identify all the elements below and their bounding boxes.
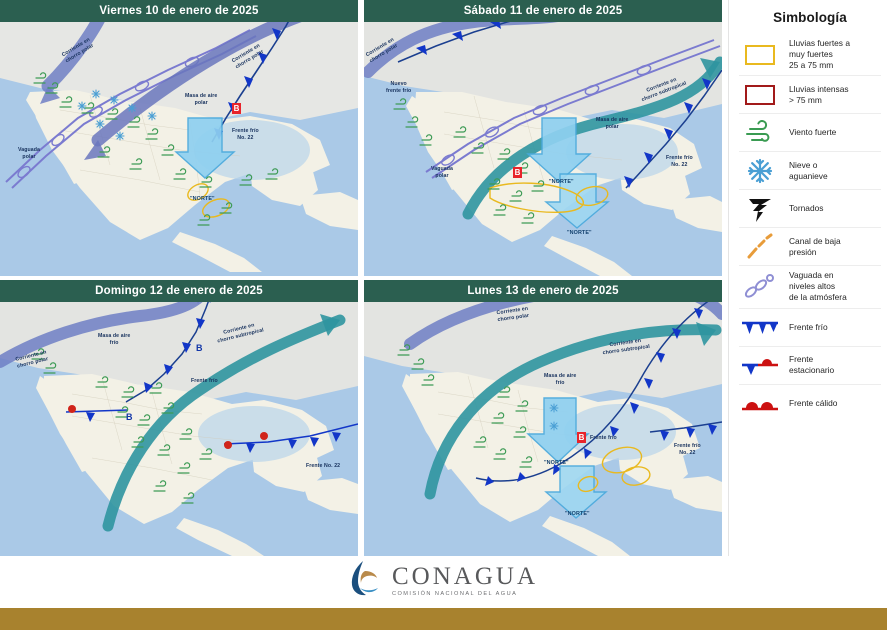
map-panel-sabado[interactable]: Sábado 11 de enero de 2025 (364, 0, 722, 276)
map-panel-lunes[interactable]: Lunes 13 de enero de 2025 (364, 280, 722, 556)
rain-heavy-box-icon (739, 45, 781, 65)
low-pressure-marker: B (232, 103, 241, 114)
panel-title-sabado: Sábado 11 de enero de 2025 (364, 0, 722, 22)
legend-label: Viento fuerte (789, 127, 836, 138)
legend-item-frente-estacionario[interactable]: Frente estacionario (739, 347, 881, 385)
conagua-subtitle: COMISIÓN NACIONAL DEL AGUA (392, 591, 538, 597)
rain-intense-box-icon (739, 85, 781, 105)
map-panels-grid: Viernes 10 de enero de 2025 (0, 0, 722, 556)
low-pressure-marker: B (126, 412, 133, 422)
legend-item-frente-frio[interactable]: Frente frío (739, 309, 881, 347)
legend-item-lluvias-intensas[interactable]: Lluvias intensas > 75 mm (739, 76, 881, 114)
weather-forecast-infographic: Viernes 10 de enero de 2025 (0, 0, 887, 630)
low-pressure-trough-icon (739, 233, 781, 261)
stationary-front-icon (739, 354, 781, 376)
legend-item-vaguada[interactable]: Vaguada en niveles altos de la atmósfera (739, 266, 881, 308)
bottom-accent-bar (0, 608, 887, 630)
tornado-icon (739, 195, 781, 223)
legend-item-viento-fuerte[interactable]: Viento fuerte (739, 114, 881, 152)
warm-front-icon (739, 396, 781, 412)
conagua-wordmark: CONAGUA (392, 564, 538, 589)
map-sabado-graphic (364, 0, 722, 276)
low-pressure-marker: B (196, 343, 203, 353)
map-lunes-graphic (364, 280, 722, 556)
map-domingo-graphic (0, 280, 358, 556)
legend-label: Frente frío (789, 322, 828, 333)
legend-item-canal-baja-presion[interactable]: Canal de baja presión (739, 228, 881, 266)
legend-label: Lluvias intensas > 75 mm (789, 84, 849, 106)
strong-wind-icon (739, 120, 781, 146)
legend-panel: Simbología Lluvias fuertes a muy fuertes… (728, 0, 887, 556)
conagua-logo: CONAGUA COMISIÓN NACIONAL DEL AGUA (0, 556, 887, 604)
map-panel-viernes[interactable]: Viernes 10 de enero de 2025 (0, 0, 358, 276)
legend-label: Tornados (789, 203, 823, 214)
legend-label: Lluvias fuertes a muy fuertes 25 a 75 mm (789, 38, 850, 71)
panel-title-lunes: Lunes 13 de enero de 2025 (364, 280, 722, 302)
snow-sleet-icon (739, 157, 781, 185)
panel-title-viernes: Viernes 10 de enero de 2025 (0, 0, 358, 22)
panel-title-domingo: Domingo 12 de enero de 2025 (0, 280, 358, 302)
legend-item-tornados[interactable]: Tornados (739, 190, 881, 228)
legend-label: Vaguada en niveles altos de la atmósfera (789, 270, 847, 303)
legend-label: Canal de baja presión (789, 236, 841, 258)
conagua-emblem-icon (349, 559, 383, 602)
legend-item-frente-calido[interactable]: Frente cálido (739, 385, 881, 423)
low-pressure-marker: B (577, 432, 586, 443)
cold-front-icon (739, 318, 781, 336)
legend-item-lluvias-fuertes[interactable]: Lluvias fuertes a muy fuertes 25 a 75 mm (739, 34, 881, 76)
legend-item-nieve[interactable]: Nieve o aguanieve (739, 152, 881, 190)
map-viernes-graphic (0, 0, 358, 276)
upper-level-trough-icon (739, 274, 781, 300)
map-panel-domingo[interactable]: Domingo 12 de enero de 2025 (0, 280, 358, 556)
legend-label: Nieve o aguanieve (789, 160, 828, 182)
legend-label: Frente estacionario (789, 354, 834, 376)
low-pressure-marker: B (513, 167, 522, 178)
legend-title: Simbología (739, 10, 881, 25)
legend-label: Frente cálido (789, 398, 837, 409)
